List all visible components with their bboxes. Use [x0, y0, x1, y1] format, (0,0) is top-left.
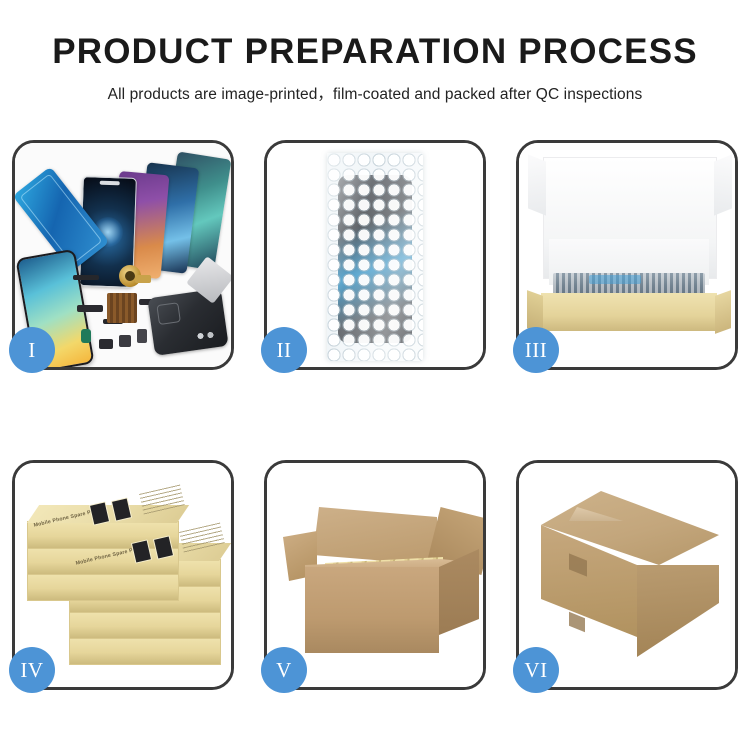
step-panel-1[interactable]: I — [12, 140, 234, 370]
product-preparation-infographic: PRODUCT PREPARATION PROCESS All products… — [0, 0, 750, 750]
screws-icon — [195, 331, 217, 341]
retail-box-stack: Mobile Phone Spare Parts Mobile Phone Sp… — [23, 477, 229, 675]
carton-back-flap-icon — [313, 507, 437, 565]
carton-front-icon — [305, 567, 439, 653]
process-steps-grid: I II — [12, 140, 738, 692]
retail-box-icon — [69, 637, 221, 665]
page-subtitle: All products are image-printed，film-coat… — [0, 82, 750, 104]
header: PRODUCT PREPARATION PROCESS All products… — [0, 0, 750, 104]
chip-grid-icon — [107, 293, 137, 323]
step-panel-2[interactable]: II — [264, 140, 486, 370]
step-badge-3: III — [513, 327, 559, 373]
step-panel-3[interactable]: III — [516, 140, 738, 370]
step-panel-5[interactable]: V — [264, 460, 486, 690]
step-badge-2: II — [261, 327, 307, 373]
battery-part-icon — [81, 329, 91, 343]
retail-box-icon — [69, 611, 221, 639]
step-panel-4[interactable]: Mobile Phone Spare Parts Mobile Phone Sp… — [12, 460, 234, 690]
step-badge-4: IV — [9, 647, 55, 693]
step-badge-6: VI — [513, 647, 559, 693]
gold-connector-icon — [135, 275, 151, 283]
retail-box-icon — [27, 573, 179, 601]
kraft-tray-icon — [541, 293, 717, 331]
bubble-wrap-pouch — [327, 153, 423, 361]
flex-cable-icon — [77, 305, 103, 312]
plastic-sheen-overlay — [327, 153, 423, 361]
part-bar-icon — [73, 275, 99, 280]
small-part-icon — [99, 339, 113, 349]
small-part-icon — [137, 329, 147, 343]
small-part-icon — [119, 335, 131, 347]
phone-notch-icon — [100, 181, 120, 186]
step-badge-1: I — [9, 327, 55, 373]
page-title: PRODUCT PREPARATION PROCESS — [0, 34, 750, 71]
box-window-icon — [111, 497, 132, 521]
sealed-carton-side-icon — [637, 565, 719, 657]
step-panel-6[interactable]: VI — [516, 460, 738, 690]
step-badge-5: V — [261, 647, 307, 693]
